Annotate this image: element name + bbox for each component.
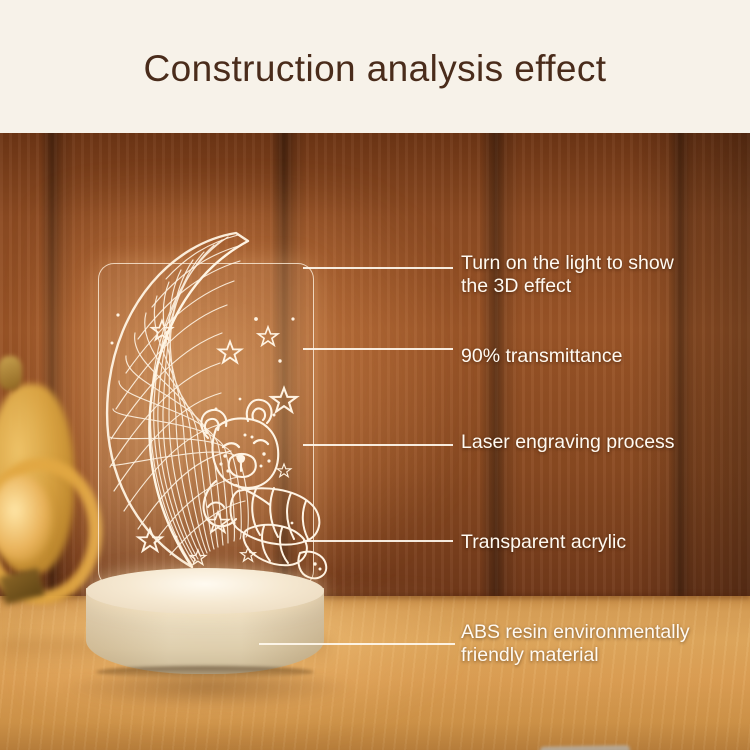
- lamp-base-top: [86, 568, 324, 614]
- callout-3d-effect-label-line-1: Turn on the light to show: [461, 252, 674, 275]
- title-banner: Construction analysis effect: [0, 0, 750, 133]
- callout-transmittance-label: 90% transmittance: [461, 345, 623, 368]
- background-decor-object: [0, 348, 88, 608]
- callout-abs-resin-label-line-1: ABS resin environmentally: [461, 621, 690, 644]
- callout-laser-engraving-label: Laser engraving process: [461, 431, 675, 454]
- callout-laser-engraving-leader-line: [303, 444, 453, 446]
- callout-3d-effect-label: Turn on the light to showthe 3D effect: [461, 252, 674, 298]
- engraved-moon: [107, 233, 248, 567]
- callout-3d-effect-leader-line: [303, 267, 453, 269]
- callout-abs-resin-label: ABS resin environmentallyfriendly materi…: [461, 621, 690, 667]
- product-photo: Turn on the light to showthe 3D effect90…: [0, 133, 750, 750]
- callout-transparent-acrylic-label-line-1: Transparent acrylic: [461, 531, 626, 554]
- page-title: Construction analysis effect: [144, 48, 607, 90]
- callout-laser-engraving-label-line-1: Laser engraving process: [461, 431, 675, 454]
- lamp-base-bottom-edge: [96, 666, 314, 678]
- wall-vignette: [630, 133, 750, 603]
- callout-3d-effect-label-line-2: the 3D effect: [461, 275, 674, 298]
- callout-abs-resin-leader-line: [259, 643, 455, 645]
- cable-switch-box: [540, 745, 630, 750]
- callout-transmittance-leader-line: [303, 348, 453, 350]
- callout-transparent-acrylic-label: Transparent acrylic: [461, 531, 626, 554]
- decor-knob: [0, 356, 22, 390]
- night-light-lamp: [88, 223, 328, 703]
- lamp-base: [82, 568, 330, 688]
- callout-abs-resin-label-line-2: friendly material: [461, 644, 690, 667]
- product-infographic: Construction analysis effect: [0, 0, 750, 750]
- callout-transparent-acrylic-leader-line: [303, 540, 453, 542]
- callout-transmittance-label-line-1: 90% transmittance: [461, 345, 623, 368]
